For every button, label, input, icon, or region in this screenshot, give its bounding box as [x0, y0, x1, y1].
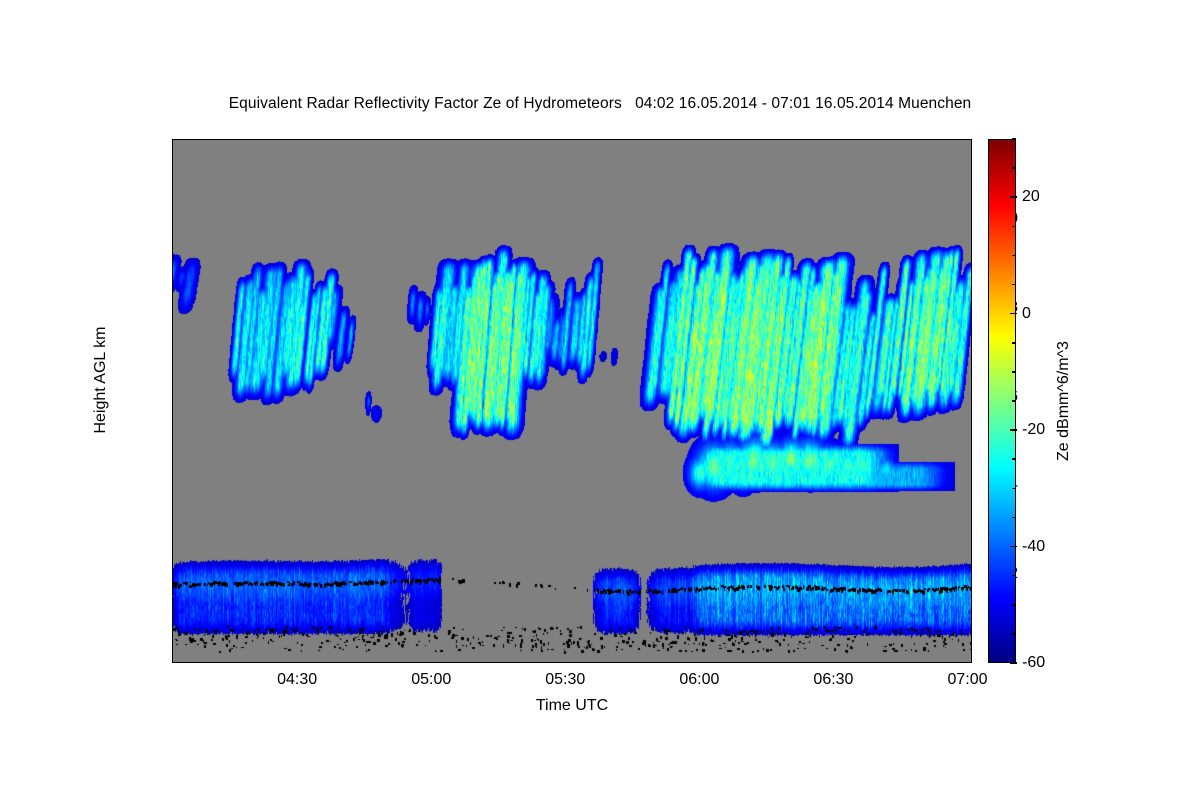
x-tick-label: 05:00 [411, 671, 451, 689]
x-tick-major [700, 662, 702, 663]
x-tick-minor [253, 662, 255, 663]
y-tick-minor [172, 330, 173, 332]
y-tick-minor [971, 375, 972, 377]
colorbar-label: Ze dBmm^6/m^3 [1055, 139, 1073, 663]
y-tick-minor [971, 286, 972, 288]
y-tick-minor [971, 597, 972, 599]
y-axis-label: Height AGL km [92, 220, 110, 540]
y-tick-minor [172, 286, 173, 288]
colorbar-tick-major [1010, 196, 1017, 198]
reflectivity-heatmap [173, 140, 972, 663]
y-tick-major [971, 308, 972, 310]
y-tick-minor [172, 619, 173, 621]
y-tick-major [172, 574, 173, 576]
x-tick-label: 06:30 [813, 671, 853, 689]
colorbar-label-wrap: Ze dBmm^6/m^3 [1055, 139, 1085, 663]
x-tick-label: 04:30 [277, 671, 317, 689]
x-tick-minor [744, 139, 746, 140]
x-tick-minor [521, 139, 523, 140]
y-tick-minor [172, 175, 173, 177]
colorbar-tick-major [1010, 429, 1017, 431]
x-tick-minor [476, 139, 478, 140]
x-tick-major [566, 662, 568, 663]
x-tick-minor [342, 662, 344, 663]
radar-reflectivity-figure: Equivalent Radar Reflectivity Factor Ze … [0, 0, 1200, 800]
y-tick-minor [971, 153, 972, 155]
y-tick-minor [172, 441, 173, 443]
colorbar-tick-minor [1012, 342, 1016, 344]
colorbar-tick-minor [1012, 226, 1016, 228]
y-tick-minor [971, 197, 972, 199]
x-tick-major [566, 139, 568, 140]
x-tick-minor [878, 662, 880, 663]
colorbar-tick-minor [1012, 517, 1016, 519]
colorbar-tick-label: 20 [1022, 188, 1040, 206]
x-tick-minor [208, 662, 210, 663]
colorbar-tick-minor [1012, 488, 1016, 490]
y-tick-major [172, 219, 173, 221]
x-tick-major [968, 139, 970, 140]
y-tick-minor [971, 508, 972, 510]
x-tick-minor [655, 662, 657, 663]
x-tick-minor [610, 139, 612, 140]
colorbar-tick-label: -40 [1022, 538, 1045, 556]
colorbar-tick-minor [1012, 633, 1016, 635]
colorbar-tick-label: -60 [1022, 654, 1045, 672]
colorbar-tick-major [1010, 313, 1017, 315]
x-tick-minor [744, 662, 746, 663]
x-tick-major [834, 662, 836, 663]
x-tick-label: 07:00 [947, 671, 987, 689]
x-tick-minor [208, 139, 210, 140]
x-tick-major [297, 662, 299, 663]
colorbar-tick-minor [1012, 575, 1016, 577]
colorbar-tick-label: 0 [1022, 305, 1031, 323]
colorbar-tick-minor [1012, 138, 1016, 140]
x-tick-major [431, 662, 433, 663]
plot-area[interactable] [172, 139, 972, 663]
y-tick-major [172, 486, 173, 488]
y-tick-minor [971, 463, 972, 465]
x-tick-minor [387, 139, 389, 140]
x-tick-major [297, 139, 299, 140]
y-tick-minor [172, 463, 173, 465]
y-tick-major [971, 574, 972, 576]
y-tick-minor [172, 419, 173, 421]
colorbar-tick-minor [1012, 167, 1016, 169]
y-tick-minor [971, 352, 972, 354]
y-tick-minor [172, 197, 173, 199]
y-tick-minor [172, 508, 173, 510]
x-tick-minor [387, 662, 389, 663]
y-tick-minor [172, 375, 173, 377]
x-tick-label: 06:00 [679, 671, 719, 689]
y-tick-minor [172, 552, 173, 554]
y-tick-minor [971, 241, 972, 243]
x-tick-major [834, 139, 836, 140]
x-tick-minor [655, 139, 657, 140]
x-tick-minor [789, 662, 791, 663]
x-tick-minor [253, 139, 255, 140]
y-tick-major [172, 397, 173, 399]
x-tick-minor [923, 139, 925, 140]
x-tick-minor [789, 139, 791, 140]
x-tick-minor [476, 662, 478, 663]
x-tick-minor [610, 662, 612, 663]
x-tick-minor [521, 662, 523, 663]
x-tick-major [431, 139, 433, 140]
y-tick-major [971, 486, 972, 488]
y-axis-label-wrap: Height AGL km [96, 139, 126, 663]
y-tick-major [172, 308, 173, 310]
x-tick-major [700, 139, 702, 140]
x-tick-major [968, 662, 970, 663]
y-tick-minor [971, 175, 972, 177]
colorbar-tick-minor [1012, 604, 1016, 606]
y-tick-minor [172, 530, 173, 532]
x-tick-minor [923, 662, 925, 663]
x-tick-label: 05:30 [545, 671, 585, 689]
y-tick-minor [971, 264, 972, 266]
x-tick-minor [342, 139, 344, 140]
colorbar-tick-major [1010, 662, 1017, 664]
y-tick-minor [172, 153, 173, 155]
y-tick-minor [971, 441, 972, 443]
y-tick-minor [971, 641, 972, 643]
y-tick-minor [971, 330, 972, 332]
page-title: Equivalent Radar Reflectivity Factor Ze … [0, 95, 1200, 113]
x-axis-label: Time UTC [172, 697, 972, 715]
y-tick-minor [971, 619, 972, 621]
y-tick-major [971, 397, 972, 399]
colorbar-tick-minor [1012, 284, 1016, 286]
y-tick-minor [172, 352, 173, 354]
colorbar-tick-major [1010, 546, 1017, 548]
y-tick-minor [172, 641, 173, 643]
y-tick-minor [971, 552, 972, 554]
y-tick-minor [971, 530, 972, 532]
x-tick-minor [878, 139, 880, 140]
y-tick-minor [971, 419, 972, 421]
colorbar-tick-minor [1012, 371, 1016, 373]
y-tick-major [971, 219, 972, 221]
colorbar-tick-label: -20 [1022, 421, 1045, 439]
colorbar-tick-minor [1012, 255, 1016, 257]
y-tick-minor [172, 264, 173, 266]
y-tick-minor [172, 241, 173, 243]
y-tick-minor [172, 597, 173, 599]
colorbar-tick-minor [1012, 458, 1016, 460]
colorbar-tick-minor [1012, 400, 1016, 402]
